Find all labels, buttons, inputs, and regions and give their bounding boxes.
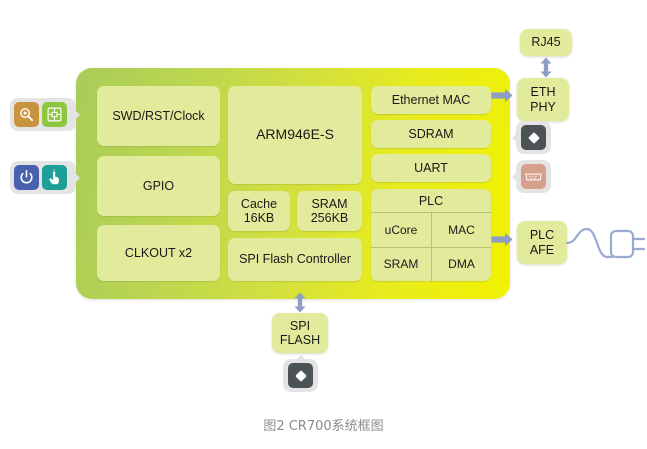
plc-cell-dma[interactable]: DMA (431, 247, 491, 282)
plate-nub (75, 110, 80, 120)
plc-cell-sram[interactable]: SRAM (371, 247, 431, 282)
flash-memory-icon-plate[interactable] (283, 359, 318, 392)
arrow-ethernet-mac-to-eth-phy (491, 88, 513, 103)
block-diagram: SWD/RST/Clock GPIO CLKOUT x2 ARM946E-S C… (0, 0, 647, 449)
peripheral-rj45[interactable]: RJ45 (520, 29, 572, 56)
plc-cell-mac[interactable]: MAC (431, 212, 491, 247)
soc-container: SWD/RST/Clock GPIO CLKOUT x2 ARM946E-S C… (76, 68, 510, 299)
memory-icon-plate[interactable] (516, 121, 551, 154)
block-gpio[interactable]: GPIO (97, 156, 220, 216)
plate-nub (512, 133, 517, 143)
arrow-plc-to-plc-afe (491, 232, 513, 247)
arrow-rj45-to-eth-phy (538, 57, 554, 78)
plc-cell-ucore[interactable]: uCore (371, 212, 431, 247)
memory-chip-icon[interactable] (521, 125, 546, 150)
plc-grid: uCore MAC SRAM DMA (371, 212, 491, 281)
plate-nub (75, 173, 80, 183)
chip-layout-icon[interactable] (42, 102, 67, 127)
power-icon[interactable] (14, 165, 39, 190)
block-ethernet-mac[interactable]: Ethernet MAC (371, 86, 491, 114)
plate-nub (512, 172, 517, 182)
db9-connector-icon[interactable] (521, 164, 546, 189)
plate-nub (296, 355, 306, 360)
block-arm946e-s[interactable]: ARM946E-S (228, 86, 362, 184)
plc-title: PLC (371, 189, 491, 212)
block-clkout-x2[interactable]: CLKOUT x2 (97, 225, 220, 281)
block-spi-flash-controller[interactable]: SPI Flash Controller (228, 238, 362, 281)
block-sram-256kb[interactable]: SRAM 256KB (297, 191, 362, 231)
arrow-spi-flash-controller-to-spi-flash (292, 292, 308, 313)
connector-icon-plate[interactable] (516, 160, 551, 193)
debug-tools-icon-plate[interactable] (10, 98, 76, 131)
flash-memory-icon[interactable] (288, 363, 313, 388)
magnifier-icon[interactable] (14, 102, 39, 127)
peripheral-spi-flash[interactable]: SPI FLASH (272, 313, 328, 353)
block-sdram[interactable]: SDRAM (371, 120, 491, 148)
block-plc[interactable]: PLC uCore MAC SRAM DMA (371, 189, 491, 281)
block-swd-rst-clock[interactable]: SWD/RST/Clock (97, 86, 220, 146)
peripheral-eth-phy[interactable]: ETH PHY (517, 78, 569, 121)
power-plug-icon (565, 218, 645, 270)
figure-caption: 图2 CR700系统框图 (0, 415, 647, 434)
power-touch-icon-plate[interactable] (10, 161, 76, 194)
block-uart[interactable]: UART (371, 154, 491, 182)
peripheral-plc-afe[interactable]: PLC AFE (517, 221, 567, 264)
touch-hand-icon[interactable] (42, 165, 67, 190)
block-cache-16kb[interactable]: Cache 16KB (228, 191, 290, 231)
